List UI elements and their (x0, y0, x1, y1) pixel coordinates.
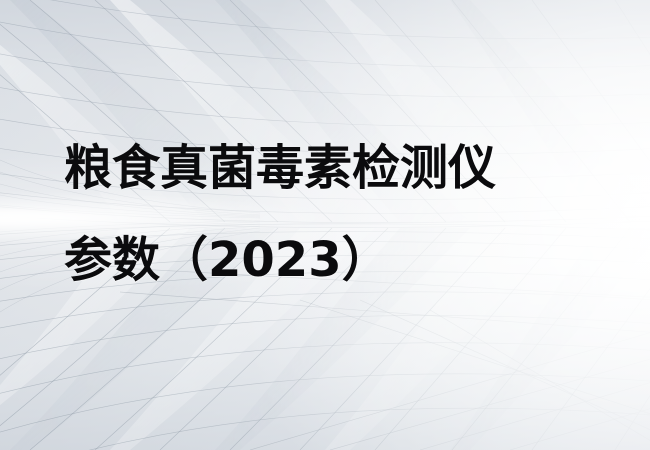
mesh-diagonals (120, 268, 650, 450)
page-title: 粮食真菌毒素检测仪 参数（2023） (64, 136, 584, 292)
title-line-secondary: 参数（2023） (64, 228, 584, 292)
title-line-primary: 粮食真菌毒素检测仪 (64, 136, 584, 200)
banner-image: 粮食真菌毒素检测仪 参数（2023） (0, 0, 650, 450)
